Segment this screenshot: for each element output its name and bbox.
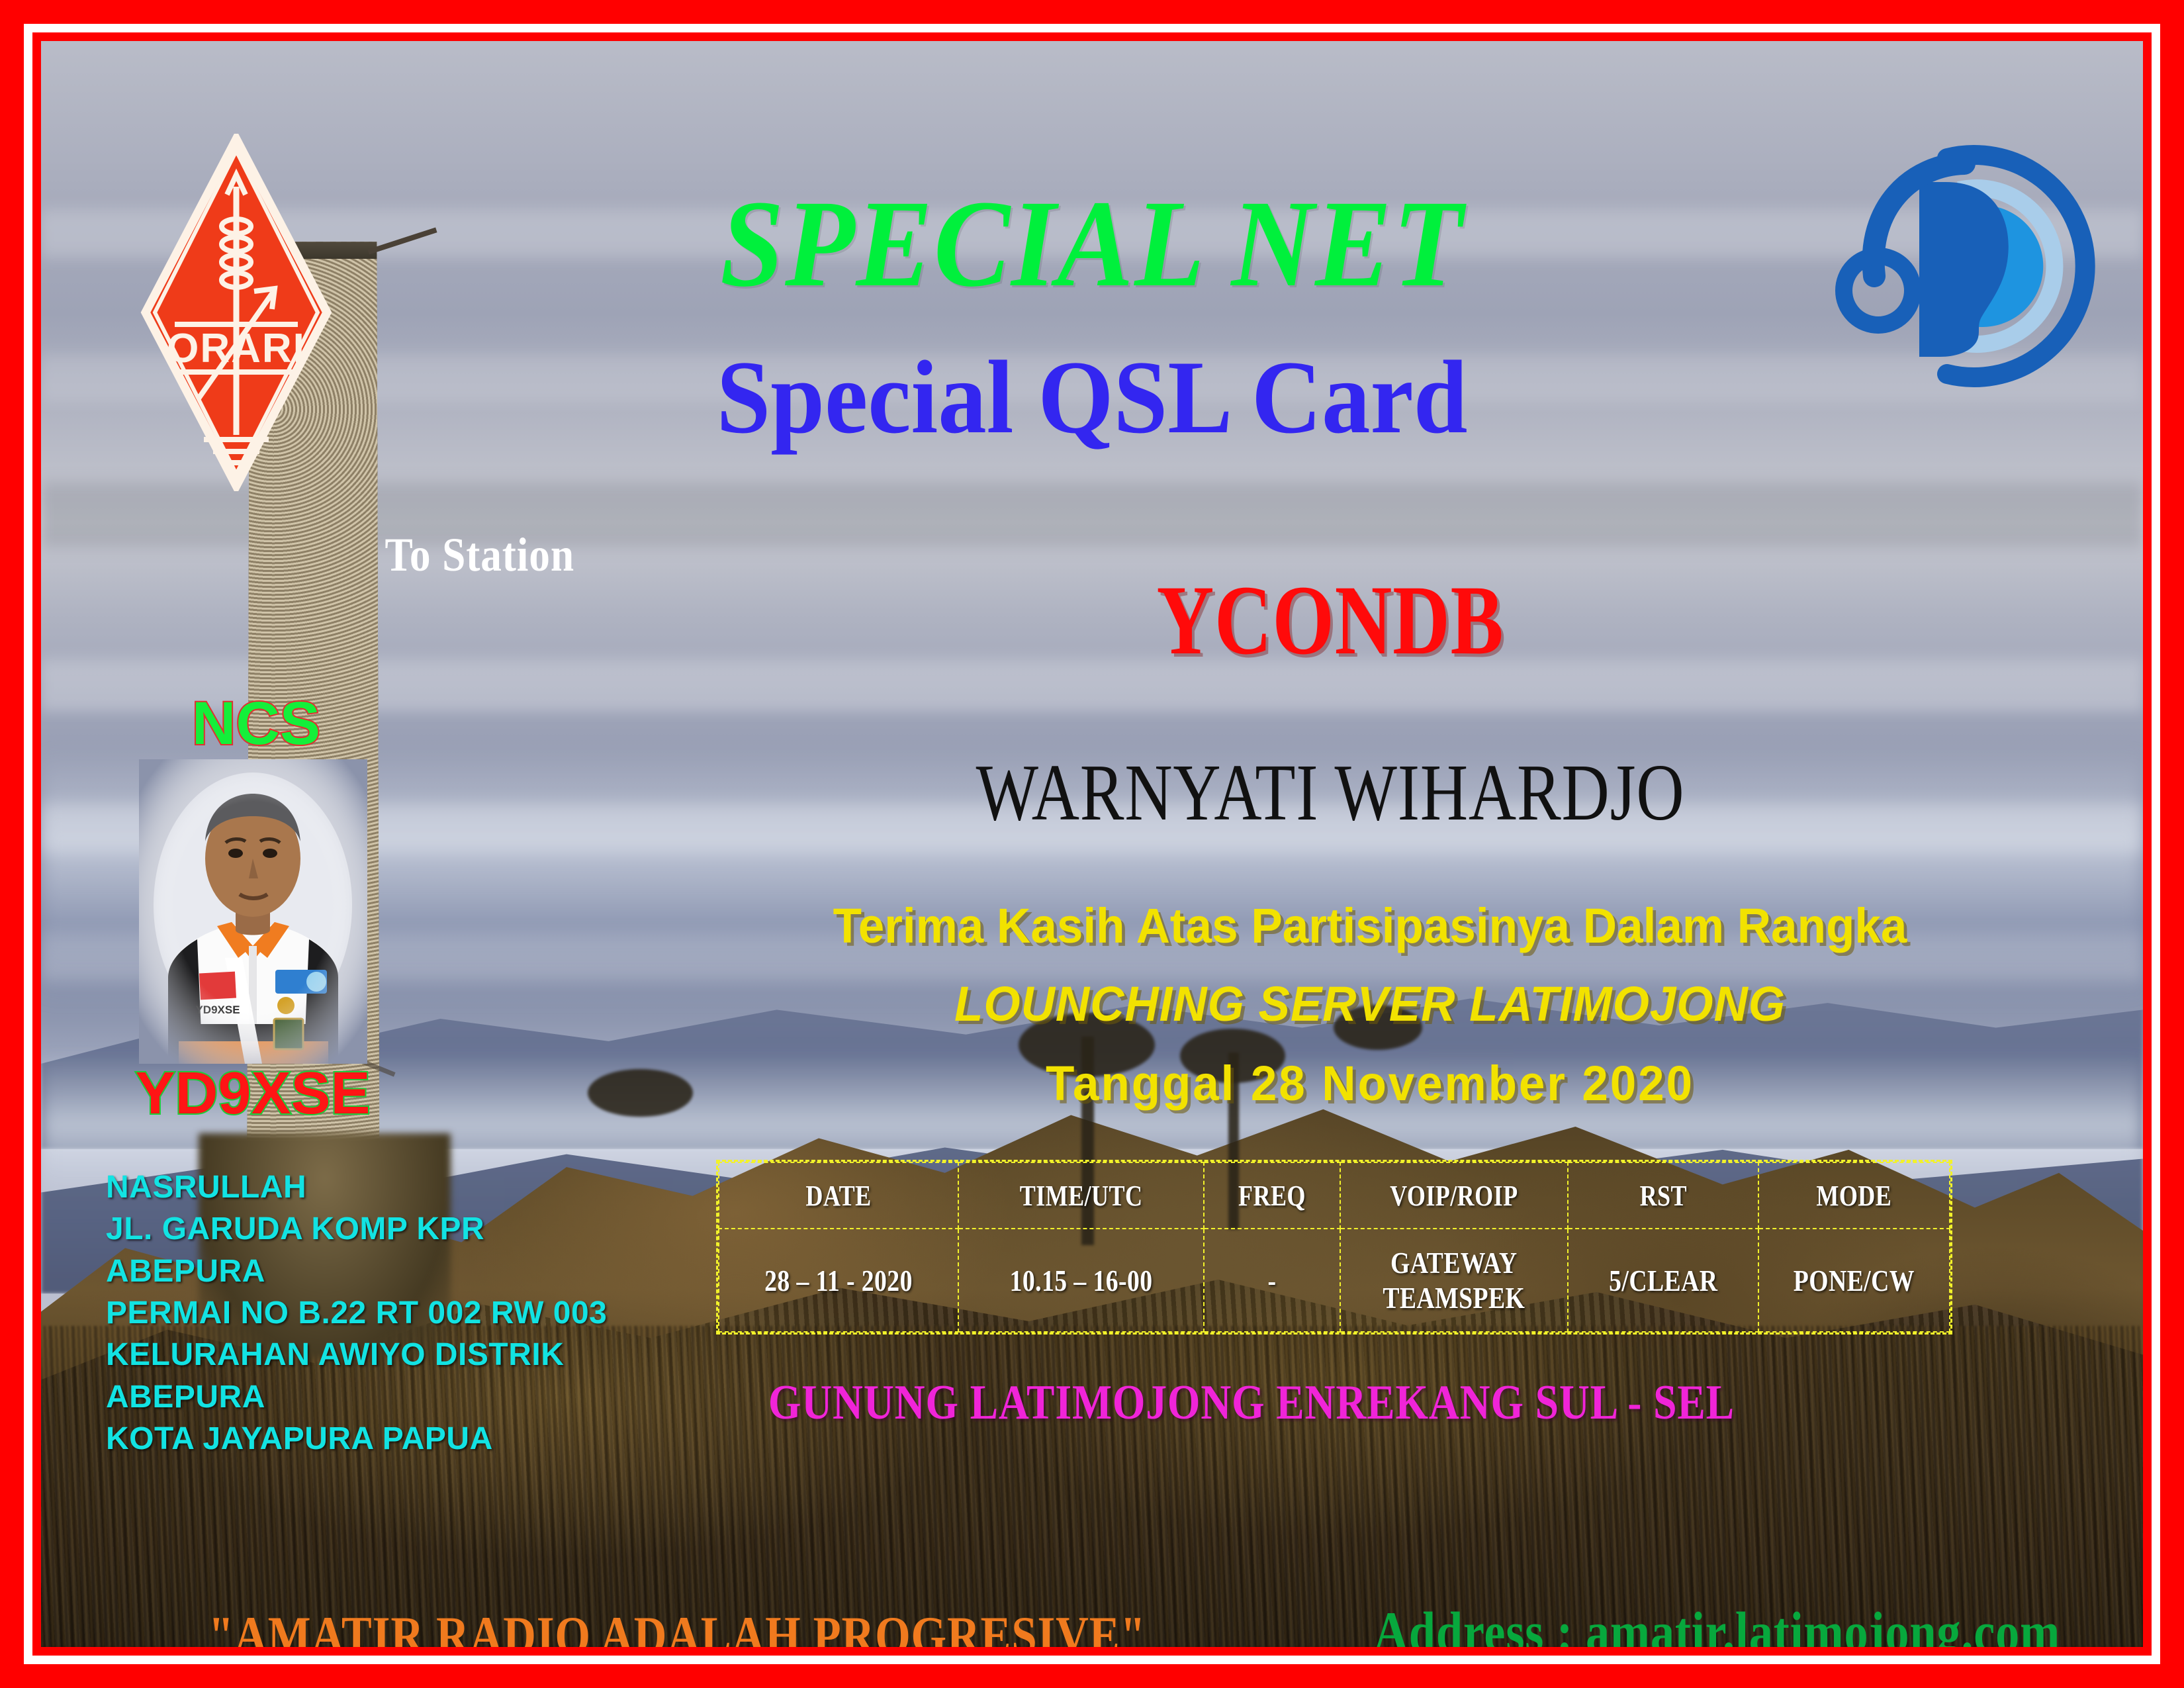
column-header-time: TIME/UTC <box>980 1162 1181 1229</box>
event-line: LOUNCHING SERVER LATIMOJONG <box>819 980 1922 1029</box>
to-station-label: To Station <box>385 531 574 579</box>
cell-rst: 5/CLEAR <box>1585 1229 1742 1332</box>
column-header-mode: MODE <box>1776 1162 1933 1229</box>
cell-mode: PONE/CW <box>1776 1229 1933 1332</box>
card-address-url: Address : amatir.latimojong.com <box>1374 1603 2060 1647</box>
column-header-date: DATE <box>741 1162 937 1229</box>
ncs-role-label: NCS <box>150 693 362 754</box>
recipient-operator-name: WARNYATI WIHARDJO <box>891 753 1768 833</box>
ridge-tree-4-canopy <box>588 1069 693 1117</box>
address-line: ABEPURA <box>106 1250 607 1292</box>
event-date-line: Tanggal 28 November 2020 <box>819 1059 1922 1108</box>
cell-freq: - <box>1216 1229 1328 1332</box>
cell-time: 10.15 – 16-00 <box>980 1229 1181 1332</box>
card-background-photo: ORARI SPECIAL NET Special Q <box>41 41 2143 1647</box>
ncs-operator-photo: YD9XSE <box>139 759 367 1064</box>
column-header-rst: RST <box>1585 1162 1742 1229</box>
location-line: GUNUNG LATIMOJONG ENREKANG SUL - SEL <box>768 1378 1735 1427</box>
address-line: JL. GARUDA KOMP KPR <box>106 1208 607 1250</box>
table-header-row: DATE TIME/UTC FREQ VOIP/ROIP RST MODE <box>719 1162 1950 1229</box>
address-line: NASRULLAH <box>106 1166 607 1208</box>
card-tagline: "AMATIR RADIO ADALAH PROGRESIVE" <box>208 1609 1146 1647</box>
address-line: ABEPURA <box>106 1376 607 1418</box>
ncs-callsign: YD9XSE <box>107 1064 398 1123</box>
qsl-card: ORARI SPECIAL NET Special Q <box>0 0 2184 1688</box>
column-header-voip: VOIP/ROIP <box>1361 1162 1547 1229</box>
cell-voip-line1: GATEWAY <box>1362 1245 1547 1280</box>
thanks-line: Terima Kasih Atas Partisipasinya Dalam R… <box>819 902 1922 951</box>
table-row: 28 – 11 - 2020 10.15 – 16-00 - GATEWAY T… <box>719 1229 1950 1332</box>
address-line: PERMAI NO B.22 RT 002 RW 003 <box>106 1292 607 1334</box>
column-header-freq: FREQ <box>1216 1162 1328 1229</box>
cell-voip: GATEWAY TEAMSPEK <box>1361 1229 1547 1332</box>
address-line: KELURAHAN AWIYO DISTRIK <box>106 1334 607 1376</box>
cell-voip-line2: TEAMSPEK <box>1362 1280 1547 1315</box>
address-line: KOTA JAYAPURA PAPUA <box>106 1418 607 1460</box>
cell-date: 28 – 11 - 2020 <box>741 1229 937 1332</box>
recipient-callsign: YCONDB <box>903 571 1758 670</box>
qso-log-table: DATE TIME/UTC FREQ VOIP/ROIP RST MODE 28… <box>716 1160 1952 1335</box>
page-subtitle: Special QSL Card <box>114 346 2070 450</box>
page-title: SPECIAL NET <box>125 181 2059 306</box>
ncs-address-block: NASRULLAH JL. GARUDA KOMP KPR ABEPURA PE… <box>106 1166 607 1460</box>
